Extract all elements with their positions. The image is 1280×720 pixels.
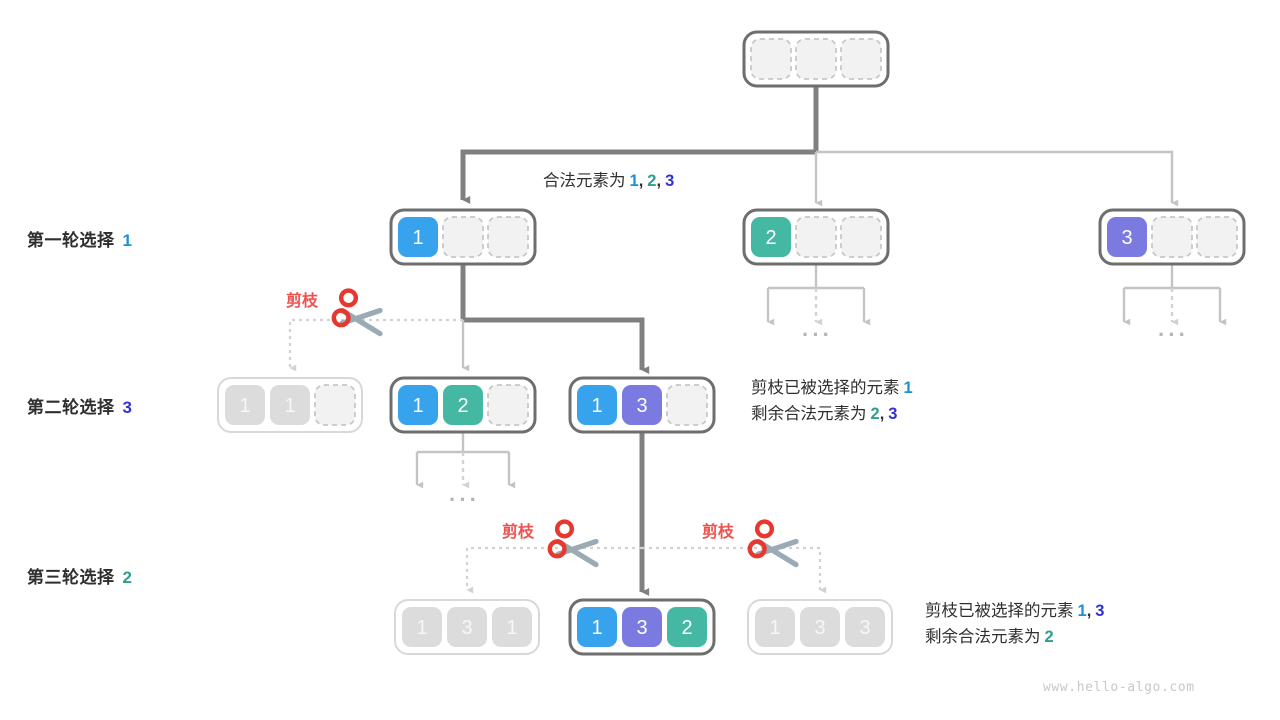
ellipsis-branch-3: ··· — [1158, 322, 1189, 348]
scissors-icon-3 — [750, 522, 796, 565]
prune-label-3: 剪枝 — [702, 518, 734, 542]
note-value: 3 — [1095, 602, 1104, 620]
note-value: 3 — [665, 172, 674, 190]
note-value: 2 — [1045, 628, 1054, 646]
row-label-round-1: 第一轮选择1 — [27, 226, 132, 251]
note-label: 剪枝已被选择的元素 — [751, 379, 900, 397]
note-value: 1 — [904, 379, 913, 397]
row-label-text: 第三轮选择 — [27, 568, 115, 587]
note-line: 剪枝已被选择的元素1,3 — [925, 598, 1104, 624]
row-label-round-2: 第二轮选择3 — [27, 393, 132, 418]
scissors-icon-2 — [550, 522, 596, 565]
note-line: 剪枝已被选择的元素1 — [751, 375, 913, 401]
prune-label-2: 剪枝 — [502, 518, 534, 542]
row-label-text: 第一轮选择 — [27, 231, 115, 250]
note-line: 剩余合法元素为2 — [925, 624, 1104, 650]
scissors-icon-1 — [334, 291, 380, 334]
row-label-value: 2 — [123, 568, 133, 587]
note-label: 合法元素为 — [543, 172, 626, 190]
note-label: 剩余合法元素为 — [751, 405, 867, 423]
prune-label-1: 剪枝 — [286, 287, 318, 311]
diagram-canvas: 123111213131132133 第一轮选择1 第二轮选择3 第三轮选择2 — [0, 0, 1280, 720]
ellipsis-branch-12: ··· — [449, 487, 480, 513]
watermark: www.hello-algo.com — [1043, 680, 1195, 695]
row-label-value: 1 — [123, 231, 133, 250]
note-value: 2 — [871, 405, 880, 423]
note-line: 剩余合法元素为2,3 — [751, 401, 913, 427]
note-round3: 剪枝已被选择的元素1,3 剩余合法元素为2 — [925, 598, 1104, 650]
row-label-value: 3 — [123, 398, 133, 417]
note-round2: 剪枝已被选择的元素1 剩余合法元素为2,3 — [751, 375, 913, 427]
ellipsis-branch-2: ··· — [802, 322, 833, 348]
note-value: 1 — [630, 172, 639, 190]
note-legal-elements: 合法元素为1,2,3 — [543, 168, 674, 194]
note-value: 1 — [1078, 602, 1087, 620]
note-label: 剪枝已被选择的元素 — [925, 602, 1074, 620]
row-label-text: 第二轮选择 — [27, 398, 115, 417]
note-label: 剩余合法元素为 — [925, 628, 1041, 646]
row-label-round-3: 第三轮选择2 — [27, 563, 132, 588]
note-value: 3 — [888, 405, 897, 423]
